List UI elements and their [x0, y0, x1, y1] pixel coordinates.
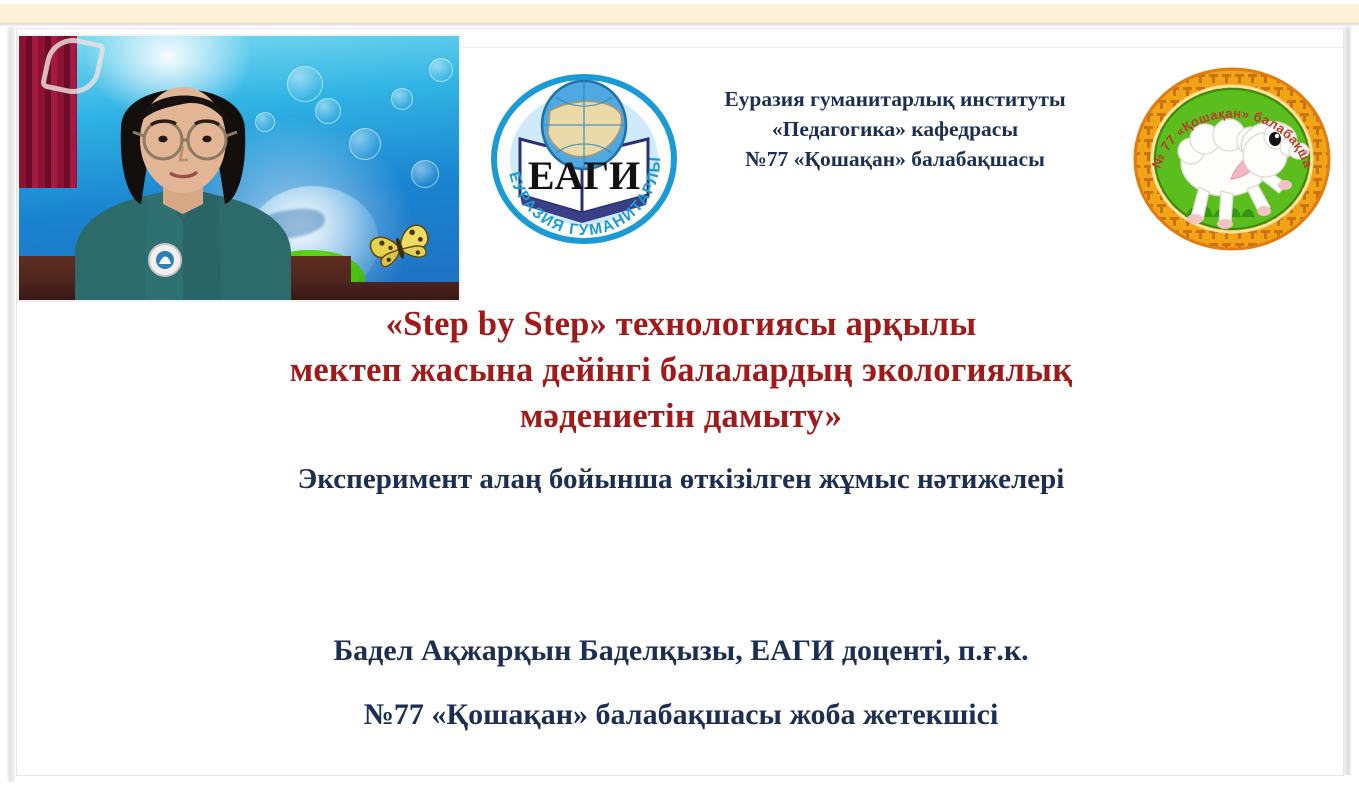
viewer-top-band — [0, 4, 1359, 23]
speaker-photo — [17, 34, 461, 302]
viewer-left-margin — [6, 27, 15, 782]
bubble-icon — [349, 128, 381, 160]
kindergarten-logo: № 77 «Қошақан» балабақшасы — [1129, 59, 1335, 259]
bubble-icon — [411, 160, 439, 188]
slide-subtitle: Эксперимент алаң бойынша өткізілген жұмы… — [57, 459, 1305, 499]
eagi-logo: ЕАГИ ЕУРАЗИЯ ГУМАНИТАРЛЫҚ ИНСТИТУТЫ — [486, 63, 682, 251]
viewer-right-margin — [1344, 27, 1352, 775]
eagi-abbreviation: ЕАГИ — [528, 153, 640, 198]
slide-title-line-3: мәдениетін дамыту» — [57, 393, 1305, 439]
header-institute: Еуразия гуманитарлық институты — [683, 84, 1107, 114]
bubble-icon — [315, 98, 341, 124]
bubble-icon — [391, 88, 413, 110]
slide-authors: Бадел Ақжарқын Баделқызы, ЕАГИ доценті, … — [57, 619, 1305, 747]
header-kindergarten: №77 «Қошақан» балабақшасы — [683, 144, 1107, 174]
slide-top-rule — [461, 47, 1344, 48]
slide-title: «Step by Step» технологиясы арқылы мекте… — [57, 301, 1305, 439]
header-department: «Педагогика» кафедрасы — [683, 114, 1107, 144]
viewer-top-divider — [0, 23, 1359, 26]
butterfly-icon — [364, 218, 438, 278]
speaker-figure — [67, 54, 299, 302]
slide-viewer: ЕАГИ ЕУРАЗИЯ ГУМАНИТАРЛЫҚ ИНСТИТУТЫ Еура… — [0, 0, 1359, 789]
slide-title-line-2: мектеп жасына дейінгі балалардың экологи… — [57, 347, 1305, 393]
slide-title-line-1: «Step by Step» технологиясы арқылы — [57, 301, 1305, 347]
header-text-block: Еуразия гуманитарлық институты «Педагоги… — [683, 84, 1107, 174]
bubble-icon — [429, 58, 453, 82]
author-line-1: Бадел Ақжарқын Баделқызы, ЕАГИ доценті, … — [57, 619, 1305, 683]
presentation-slide: ЕАГИ ЕУРАЗИЯ ГУМАНИТАРЛЫҚ ИНСТИТУТЫ Еура… — [16, 28, 1344, 776]
author-line-2: №77 «Қошақан» балабақшасы жоба жетекшісі — [57, 683, 1305, 747]
